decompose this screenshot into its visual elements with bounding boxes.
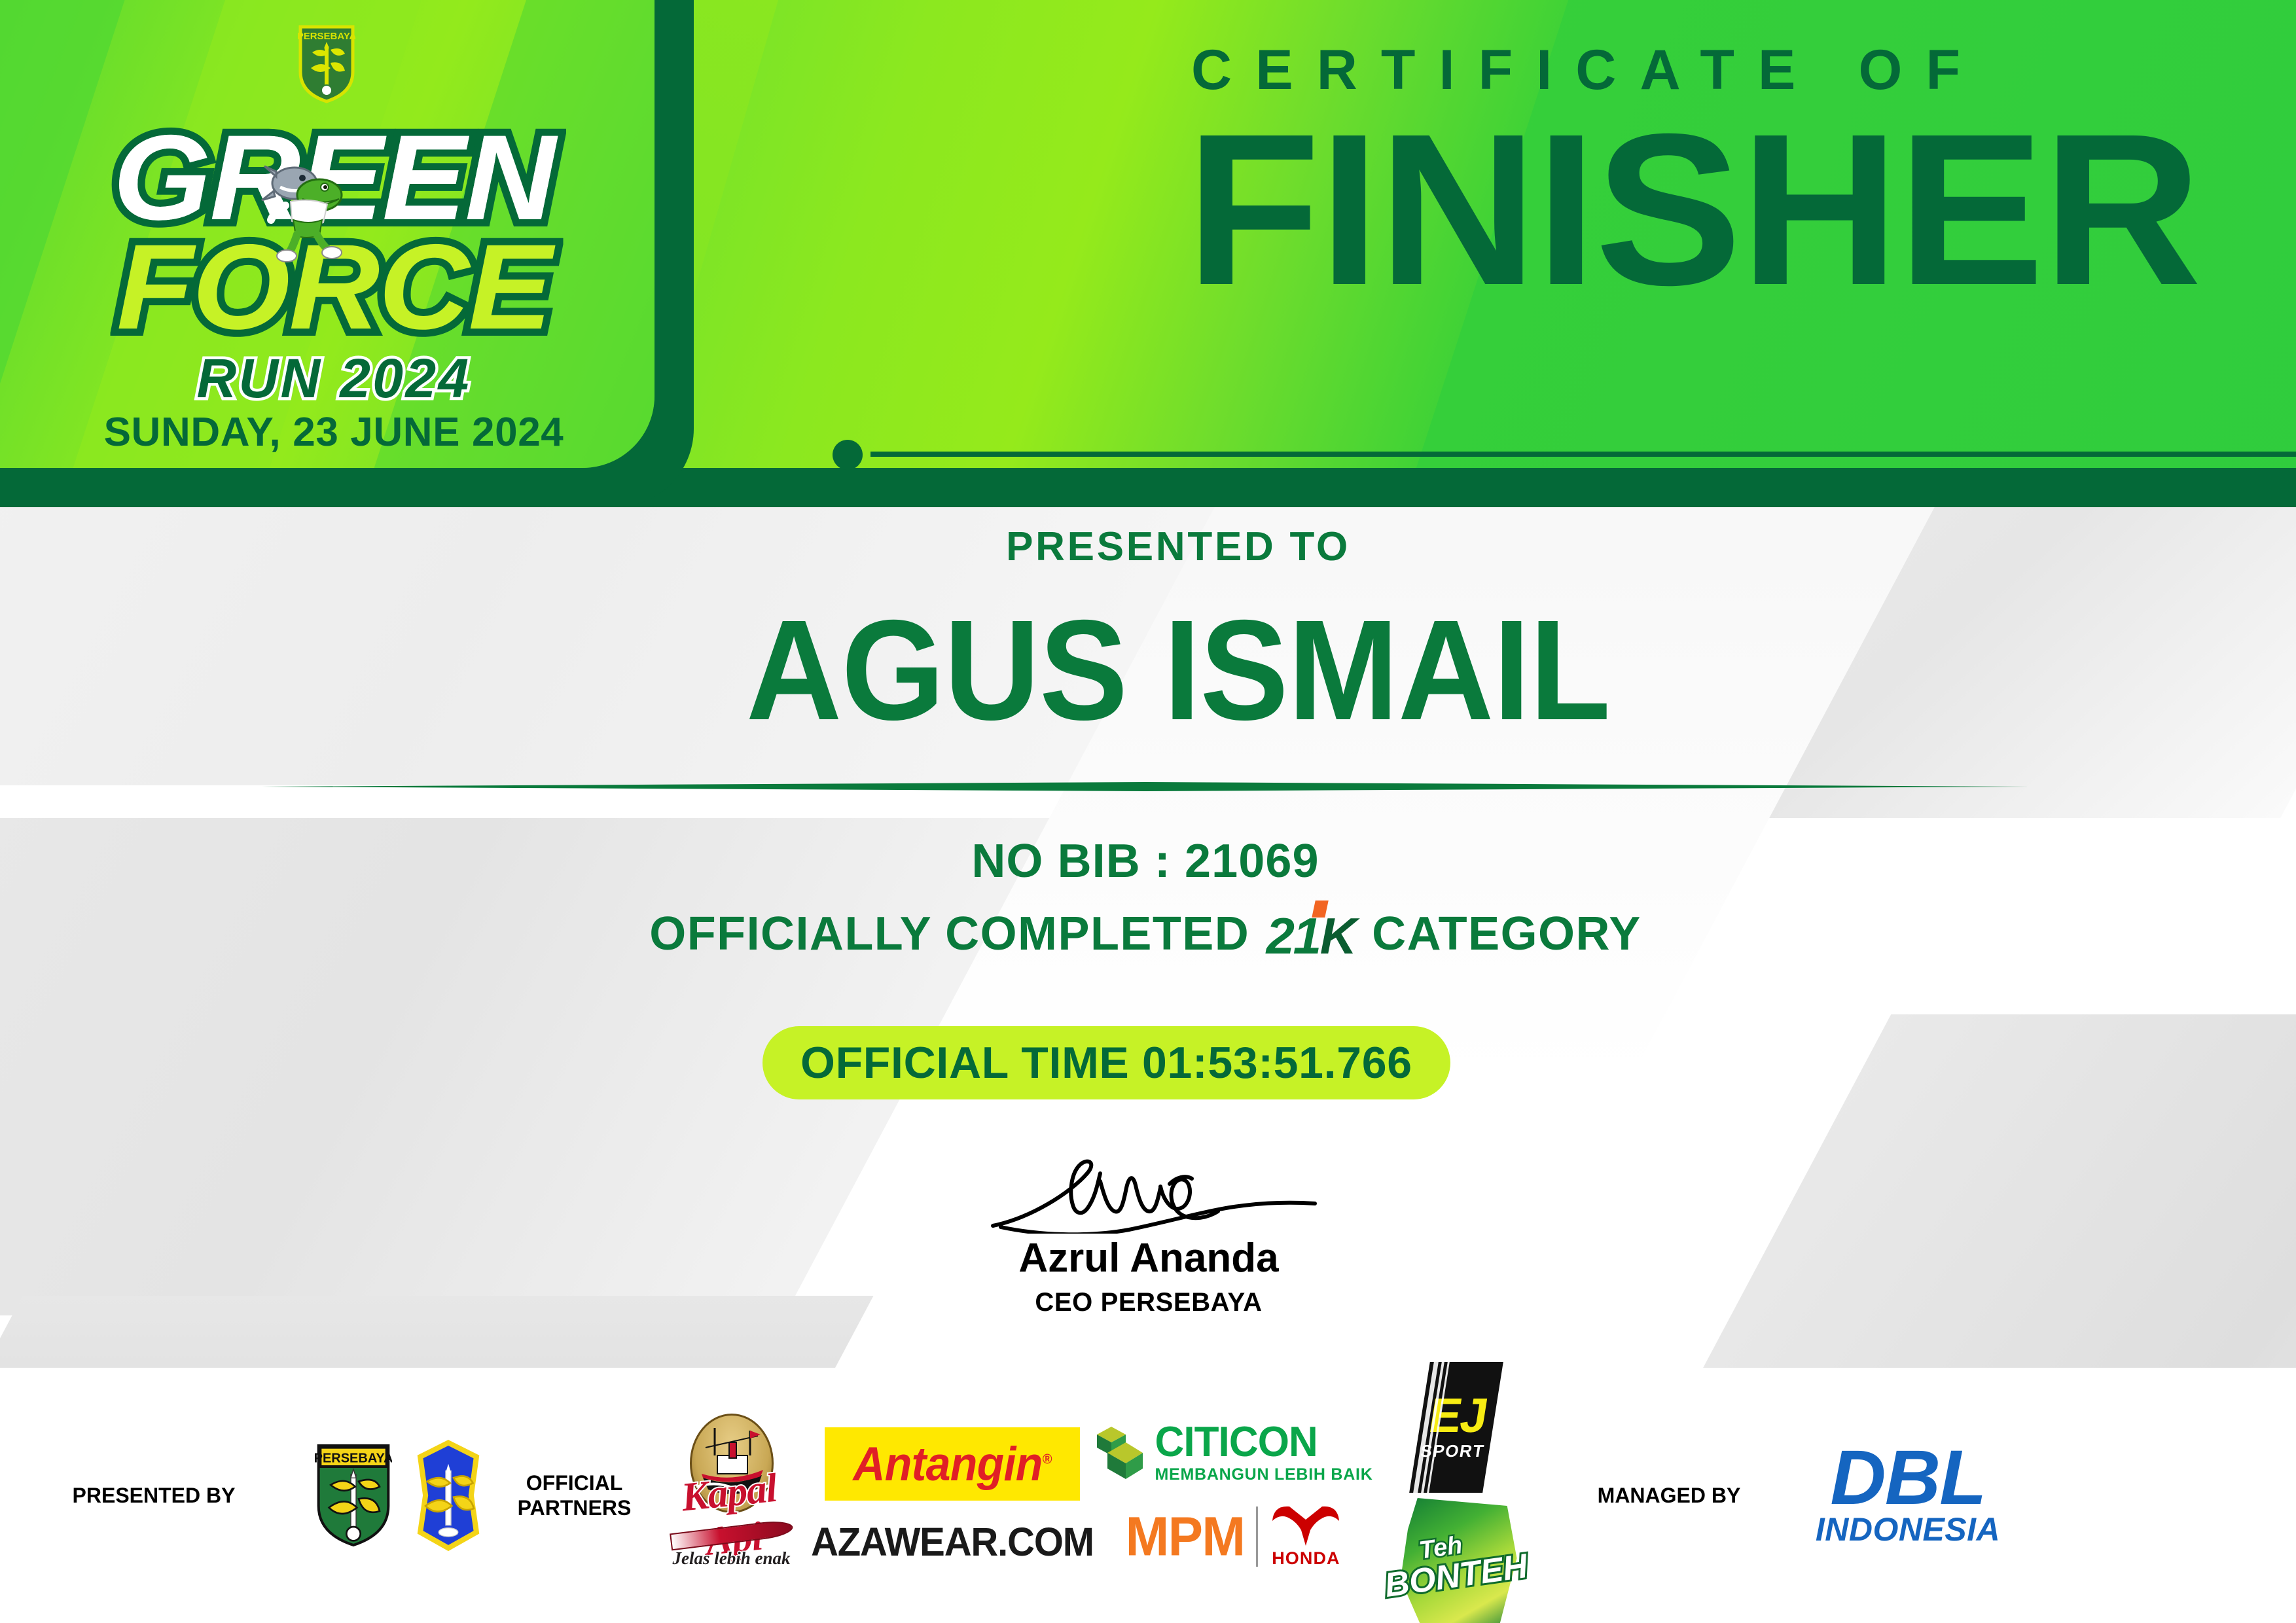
sponsor-kapal-api: Kapal Api Jelas lebih enak	[651, 1414, 812, 1577]
kapal-api-logo: Kapal Api Jelas lebih enak	[661, 1414, 802, 1577]
presented-to-label: PRESENTED TO	[655, 524, 1702, 570]
teh-bonteh-logo: Teh BONTEH	[1396, 1498, 1517, 1623]
ej-sport-logo: EJ SPORT	[1409, 1362, 1503, 1493]
citicon-wordmark: CITICON	[1155, 1421, 1372, 1463]
honda-wing-icon	[1270, 1504, 1342, 1547]
bib-number: 21069	[1185, 835, 1319, 887]
mpm-honda-logo: MPM HONDA	[1126, 1504, 1342, 1569]
category-completed-line: OFFICIALLY COMPLETED 21K CATEGORY	[393, 906, 1898, 966]
kapal-api-tagline: Jelas lebih enak	[661, 1548, 802, 1569]
azawear-wordmark: AZAWEAR.COM	[811, 1518, 1094, 1565]
citicon-text: CITICON MEMBANGUN LEBIH BAIK	[1155, 1422, 1372, 1483]
divider	[1256, 1507, 1258, 1567]
finisher-title: FINISHER	[1186, 101, 2200, 317]
bib-number-line: NO BIB : 21069	[589, 834, 1702, 888]
sponsor-dbl: DBL INDONESIA	[1800, 1442, 2016, 1549]
dbl-wordmark: DBL	[1830, 1442, 1985, 1514]
honda-logo: HONDA	[1270, 1504, 1342, 1569]
signer-name: Azrul Ananda	[880, 1235, 1417, 1281]
persebaya-crest-icon: PERSEBAYA	[298, 25, 355, 103]
completed-prefix: OFFICIALLY COMPLETED	[649, 908, 1249, 960]
category-k-mark: K	[1320, 907, 1355, 965]
citicon-mark-icon	[1094, 1424, 1148, 1482]
svg-text:PERSEBAYA: PERSEBAYA	[315, 1451, 392, 1465]
sponsor-citicon-mpm: CITICON MEMBANGUN LEBIH BAIK MPM HONDA	[1093, 1422, 1374, 1569]
bib-label: NO BIB :	[971, 835, 1171, 887]
registered-mark: ®	[1043, 1451, 1052, 1467]
name-divider	[262, 782, 2029, 791]
antangin-logo: Antangin®	[825, 1427, 1080, 1501]
citicon-logo: CITICON MEMBANGUN LEBIH BAIK	[1094, 1422, 1372, 1483]
antangin-wordmark: Antangin®	[853, 1436, 1051, 1491]
event-date: SUNDAY, 23 JUNE 2024	[39, 409, 628, 455]
sponsor-footer: PRESENTED BY PERSEBAYA	[0, 1368, 2296, 1623]
category-badge: 21K	[1264, 906, 1358, 966]
sponsor-east-java	[399, 1439, 497, 1552]
official-time-badge: OFFICIAL TIME 01:53:51.766	[762, 1026, 1450, 1099]
managed-by-label: MANAGED BY	[1538, 1483, 1800, 1508]
dbl-logo: DBL INDONESIA	[1816, 1442, 2000, 1549]
mpm-wordmark: MPM	[1126, 1505, 1245, 1568]
sponsor-antangin-azawear: Antangin® AZAWEAR.COM	[812, 1427, 1093, 1564]
sponsor-ej-bonteh: EJ SPORT Teh BONTEH	[1374, 1362, 1538, 1623]
signer-title: CEO PERSEBAYA	[880, 1288, 1417, 1317]
dbl-tagline: INDONESIA	[1816, 1510, 2000, 1548]
certificate-canvas: PERSEBAYA GREEN FORCE RUN 2024	[0, 0, 2296, 1623]
logo-line-run-year: RUN 2024	[39, 351, 628, 406]
signature-mark-icon	[933, 1155, 1365, 1234]
svg-text:PERSEBAYA: PERSEBAYA	[298, 31, 355, 42]
signature-block: Azrul Ananda CEO PERSEBAYA	[880, 1155, 1417, 1317]
official-time-text: OFFICIAL TIME 01:53:51.766	[800, 1037, 1412, 1088]
honda-wordmark: HONDA	[1272, 1548, 1340, 1569]
citicon-tagline: MEMBANGUN LEBIH BAIK	[1155, 1467, 1372, 1483]
completed-suffix: CATEGORY	[1372, 908, 1641, 960]
sponsor-persebaya: PERSEBAYA	[308, 1443, 399, 1548]
official-partners-label: OFFICIAL PARTNERS	[497, 1471, 651, 1521]
header-rule-dot	[833, 440, 863, 470]
header-rule	[870, 452, 2296, 457]
recipient-name: AGUS ISMAIL	[509, 589, 1848, 753]
presented-by-label: PRESENTED BY	[0, 1483, 308, 1508]
east-java-crest-icon	[410, 1439, 487, 1552]
persebaya-crest-icon: PERSEBAYA	[315, 1443, 392, 1548]
mascot-icon	[257, 154, 355, 266]
